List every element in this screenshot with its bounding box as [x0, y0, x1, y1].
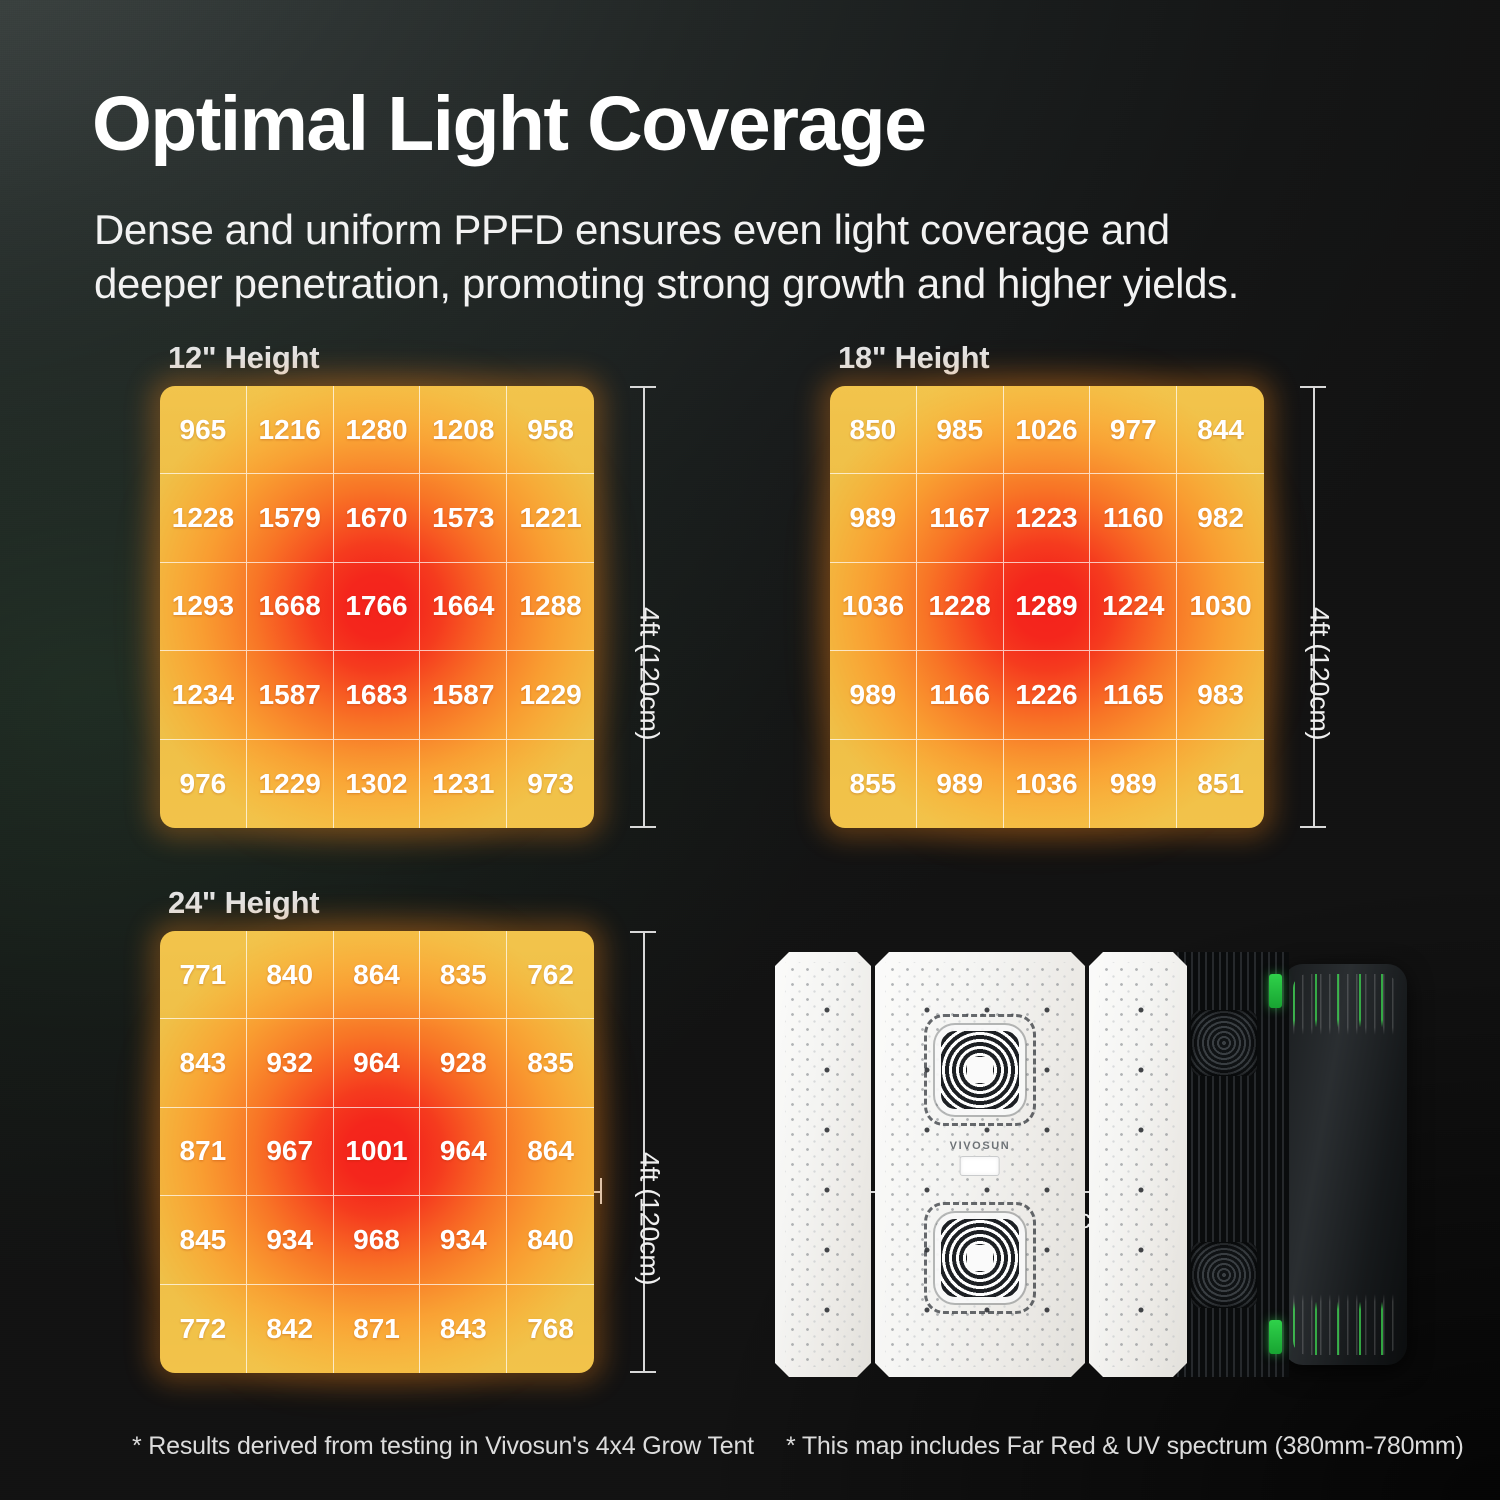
page-subtitle: Dense and uniform PPFD ensures even ligh… [94, 203, 1239, 311]
heatmap-cell: 835 [420, 931, 507, 1019]
heatmap-cell: 1664 [420, 563, 507, 651]
heatmap-cell: 864 [507, 1108, 594, 1196]
heatmap-cell: 1160 [1090, 474, 1177, 562]
heatmap-cell: 850 [830, 386, 917, 474]
led-accent-array [785, 962, 861, 1367]
heatmap-cell: 840 [507, 1196, 594, 1284]
heatmap-cell: 845 [160, 1196, 247, 1284]
green-accent-top [1269, 974, 1282, 1008]
product-image-grow-light: VIVOSUN [775, 952, 1410, 1377]
dimension-label-y: 4ft (120cm) [634, 607, 665, 740]
dimension-label-y: 4ft (120cm) [1304, 607, 1335, 740]
heatsink-fan-top [1191, 1010, 1257, 1076]
heatmap-cell: 968 [334, 1196, 421, 1284]
heatmap-cell: 973 [507, 740, 594, 828]
heatmap-cell: 1229 [247, 740, 334, 828]
heatmap-cell: 871 [334, 1285, 421, 1373]
housing-green-accent-lines [1293, 974, 1397, 1355]
heatmap-cell: 1167 [917, 474, 1004, 562]
heatmap-cell: 1223 [1004, 474, 1091, 562]
dimension-vertical-24in: 4ft (120cm) [630, 931, 656, 1373]
dimension-vertical-12in: 4ft (120cm) [630, 386, 656, 828]
heatmap-cell: 1208 [420, 386, 507, 474]
heatmap-cell: 871 [160, 1108, 247, 1196]
heatmap-cell: 958 [507, 386, 594, 474]
heatmap-cell: 1234 [160, 651, 247, 739]
led-accent-array [1099, 962, 1177, 1367]
heatmap-cell: 1288 [507, 563, 594, 651]
page-title: Optimal Light Coverage [92, 86, 925, 163]
heatmap-cell: 1224 [1090, 563, 1177, 651]
heatmap-cell: 1587 [247, 651, 334, 739]
heatmap-cell: 989 [917, 740, 1004, 828]
heatmap-cell: 976 [160, 740, 247, 828]
heatmap-cell: 842 [247, 1285, 334, 1373]
heatsink-fan-bottom [1191, 1242, 1257, 1308]
led-panel-center: VIVOSUN [875, 952, 1085, 1377]
heatmap-cell: 1216 [247, 386, 334, 474]
heatmap-cell: 989 [830, 474, 917, 562]
heatmap-cell: 1030 [1177, 563, 1264, 651]
heatmap-cell: 1670 [334, 474, 421, 562]
led-panel-left [775, 952, 871, 1377]
heatmap-cell: 934 [247, 1196, 334, 1284]
heatmap-cell: 1026 [1004, 386, 1091, 474]
heatmap-cell: 1579 [247, 474, 334, 562]
heatmap-cell: 1289 [1004, 563, 1091, 651]
heatmap-cell: 1165 [1090, 651, 1177, 739]
led-panel-right [1089, 952, 1187, 1377]
dimension-vertical-18in: 4ft (120cm) [1300, 386, 1326, 828]
heatmap-cell: 1166 [917, 651, 1004, 739]
heatmap-cell: 983 [1177, 651, 1264, 739]
heatmap-cell: 985 [917, 386, 1004, 474]
footnote-right: * This map includes Far Red & UV spectru… [786, 1432, 1464, 1461]
heatmap-cell: 843 [420, 1285, 507, 1373]
heatmap-cell: 1766 [334, 563, 421, 651]
heatmap-cell: 982 [1177, 474, 1264, 562]
heatmap-cell: 932 [247, 1019, 334, 1107]
heatmap-cell: 864 [334, 931, 421, 1019]
heatmap-cell: 964 [420, 1108, 507, 1196]
heatmap-cell: 1231 [420, 740, 507, 828]
product-heatsink [1177, 952, 1289, 1377]
heatmap-cell: 851 [1177, 740, 1264, 828]
heatmap-cells: 8509851026977844989116712231160982103612… [830, 386, 1264, 828]
heatmap-cell: 989 [830, 651, 917, 739]
heatmap-cell: 768 [507, 1285, 594, 1373]
heatmap-cell: 1302 [334, 740, 421, 828]
heatmap-cell: 844 [1177, 386, 1264, 474]
heatmap-cells: 7718408648357628439329649288358719671001… [160, 931, 594, 1373]
heatmap-cell: 967 [247, 1108, 334, 1196]
heatmap-cell: 1228 [917, 563, 1004, 651]
heatmap-cell: 840 [247, 931, 334, 1019]
product-rear-housing [1283, 964, 1407, 1365]
heatmap-grid-18in: 8509851026977844989116712231160982103612… [830, 386, 1264, 828]
heatmap-cell: 977 [1090, 386, 1177, 474]
footnote-left: * Results derived from testing in Vivosu… [132, 1432, 754, 1461]
heatmap-cell: 1001 [334, 1108, 421, 1196]
heatmap-cell: 1036 [830, 563, 917, 651]
heatmap-cell: 1668 [247, 563, 334, 651]
heatmap-cell: 1573 [420, 474, 507, 562]
green-accent-bottom [1269, 1320, 1282, 1354]
heatmap-cell: 1683 [334, 651, 421, 739]
heatmap-cell: 1226 [1004, 651, 1091, 739]
brand-label-chip [960, 1156, 1000, 1176]
cooling-fan-top [941, 1031, 1019, 1109]
heatmap-cells: 9651216128012089581228157916701573122112… [160, 386, 594, 828]
brand-logo: VIVOSUN [950, 1140, 1011, 1176]
dimension-label-y: 4ft (120cm) [634, 1152, 665, 1285]
heatmap-cell: 1280 [334, 386, 421, 474]
heatmap-cell: 835 [507, 1019, 594, 1107]
heatmap-cell: 762 [507, 931, 594, 1019]
heatmap-cell: 1587 [420, 651, 507, 739]
heatmap-cell: 934 [420, 1196, 507, 1284]
heatmap-cell: 772 [160, 1285, 247, 1373]
heatmap-cell: 928 [420, 1019, 507, 1107]
heatmap-grid-12in: 9651216128012089581228157916701573122112… [160, 386, 594, 828]
heatmap-cell: 855 [830, 740, 917, 828]
heatmap-cell: 843 [160, 1019, 247, 1107]
heatmap-cell: 1293 [160, 563, 247, 651]
heatmap-cell: 1036 [1004, 740, 1091, 828]
heatmap-cell: 964 [334, 1019, 421, 1107]
heatmap-grid-24in: 7718408648357628439329649288358719671001… [160, 931, 594, 1373]
heatmap-cell: 771 [160, 931, 247, 1019]
heatmap-cell: 965 [160, 386, 247, 474]
heatmap-cell: 989 [1090, 740, 1177, 828]
brand-name: VIVOSUN [950, 1140, 1011, 1152]
heatmap-cell: 1228 [160, 474, 247, 562]
cooling-fan-bottom [941, 1219, 1019, 1297]
heatmap-cell: 1229 [507, 651, 594, 739]
heatmap-cell: 1221 [507, 474, 594, 562]
